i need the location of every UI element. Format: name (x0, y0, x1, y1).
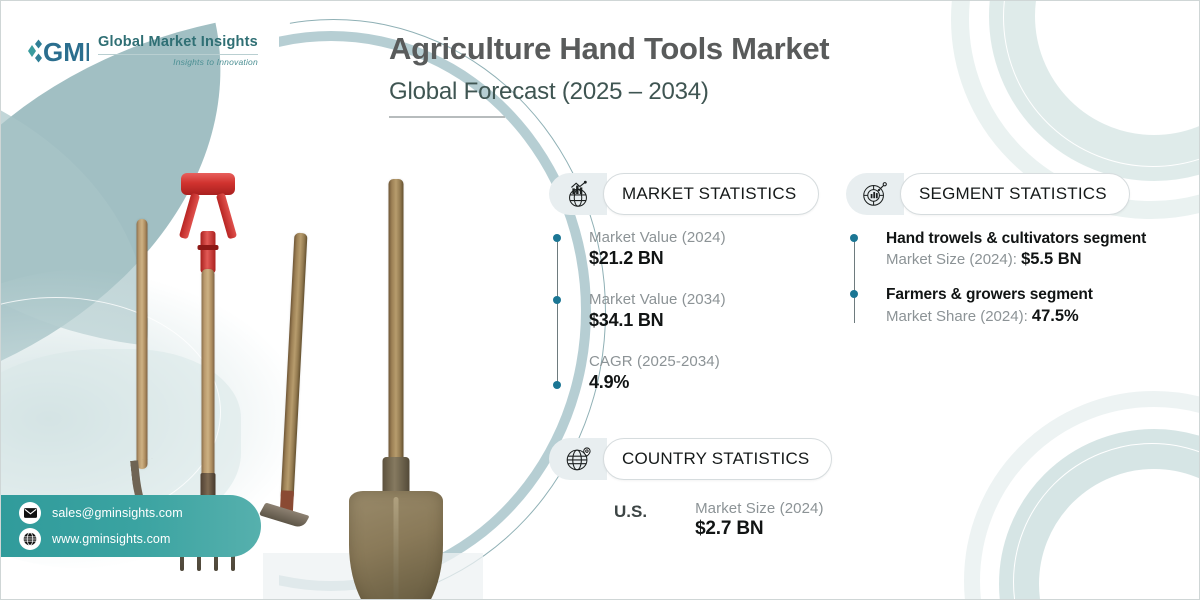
market-stat-value: $34.1 BN (589, 310, 849, 331)
timeline-dot-icon (553, 296, 561, 304)
grass-hook-scythe-tool (129, 219, 155, 529)
shovel-tool (346, 179, 446, 579)
contact-website: www.gminsights.com (52, 532, 171, 546)
country-statistics-row: U.S. Market Size (2024) $2.7 BN (549, 500, 889, 540)
statistics-panel: MARKET STATISTICS Market Value (2024) $2… (546, 1, 1200, 600)
market-stat-item: Market Value (2034) $34.1 BN (589, 291, 849, 331)
segment-statistics-title: SEGMENT STATISTICS (900, 173, 1130, 215)
timeline-dot-icon (553, 381, 561, 389)
segment-stat-title: Hand trowels & cultivators segment (886, 229, 1191, 248)
market-stat-item: CAGR (2025-2034) 4.9% (589, 353, 849, 393)
brand-logo-divider (98, 54, 258, 55)
market-statistics-list: Market Value (2024) $21.2 BN Market Valu… (549, 229, 849, 393)
market-statistics-title: MARKET STATISTICS (603, 173, 819, 215)
market-stat-value: 4.9% (589, 372, 849, 393)
timeline-dot-icon (553, 234, 561, 242)
scythe-wooden-handle (137, 219, 148, 469)
country-statistics-header: COUNTRY STATISTICS (549, 438, 889, 480)
segment-statistics-list: Hand trowels & cultivators segment Marke… (846, 229, 1191, 326)
gmi-logo-icon: GMI (23, 36, 89, 66)
segment-stat-sub-label: Market Share (2024): (886, 308, 1032, 325)
fork-d-grip-neck (201, 231, 216, 273)
segment-stat-sub-value: 47.5% (1032, 307, 1079, 325)
timeline-dot-icon (850, 290, 858, 298)
segment-statistics-block: SEGMENT STATISTICS Hand trowels & cultiv… (846, 173, 1191, 342)
fork-wooden-handle (202, 269, 215, 501)
timeline-dot-icon (850, 234, 858, 242)
contact-email-row[interactable]: sales@gminsights.com (19, 502, 261, 524)
brand-tagline: Insights to Innovation (98, 58, 258, 67)
title-underline (389, 116, 505, 118)
hoe-tool (270, 232, 316, 543)
contact-website-row[interactable]: www.gminsights.com (19, 528, 261, 550)
fork-d-grip-right (216, 193, 237, 240)
hoe-wooden-handle (280, 233, 307, 501)
segment-stat-sub: Market Size (2024): $5.5 BN (886, 250, 1191, 269)
segment-timeline-line (854, 238, 855, 323)
contact-email: sales@gminsights.com (52, 506, 183, 520)
country-stat-value: $2.7 BN (695, 518, 824, 540)
svg-text:GMI: GMI (43, 37, 89, 66)
segment-stat-sub-value: $5.5 BN (1021, 250, 1082, 268)
segment-statistics-header: SEGMENT STATISTICS (846, 173, 1191, 215)
market-stat-label: Market Value (2034) (589, 291, 849, 308)
garden-fork-tool (179, 173, 237, 503)
market-statistics-block: MARKET STATISTICS Market Value (2024) $2… (549, 173, 849, 393)
segment-stat-item: Hand trowels & cultivators segment Marke… (886, 229, 1191, 269)
brand-logo[interactable]: GMI Global Market Insights Insights to I… (23, 35, 258, 66)
market-stat-label: CAGR (2025-2034) (589, 353, 849, 370)
market-stat-value: $21.2 BN (589, 248, 849, 269)
segment-stat-sub: Market Share (2024): 47.5% (886, 307, 1191, 326)
market-timeline-line (557, 238, 558, 388)
market-statistics-header: MARKET STATISTICS (549, 173, 849, 215)
country-stat: Market Size (2024) $2.7 BN (695, 500, 824, 540)
infographic-canvas: GMI Global Market Insights Insights to I… (0, 0, 1200, 600)
brand-logo-text: Global Market Insights Insights to Innov… (98, 35, 258, 66)
market-stat-label: Market Value (2024) (589, 229, 849, 246)
segment-stat-sub-label: Market Size (2024): (886, 251, 1021, 268)
country-statistics-block: COUNTRY STATISTICS U.S. Market Size (202… (549, 438, 889, 540)
fork-d-grip-left (179, 193, 200, 240)
fork-d-grip-top (181, 173, 235, 195)
envelope-icon (19, 502, 41, 524)
shovel-blade-rib (394, 497, 399, 600)
country-stat-label: Market Size (2024) (695, 500, 824, 517)
globe-pin-icon (549, 438, 607, 480)
country-name: U.S. (614, 500, 647, 522)
globe-bar-chart-icon (549, 173, 607, 215)
contact-bar: sales@gminsights.com www.gminsights.com (0, 495, 261, 557)
country-statistics-title: COUNTRY STATISTICS (603, 438, 832, 480)
pie-chart-analytics-icon (846, 173, 904, 215)
brand-name: Global Market Insights (98, 35, 258, 50)
shovel-wooden-handle (389, 179, 404, 471)
globe-icon (19, 528, 41, 550)
segment-stat-title: Farmers & growers segment (886, 285, 1191, 304)
segment-stat-item: Farmers & growers segment Market Share (… (886, 285, 1191, 325)
market-stat-item: Market Value (2024) $21.2 BN (589, 229, 849, 269)
